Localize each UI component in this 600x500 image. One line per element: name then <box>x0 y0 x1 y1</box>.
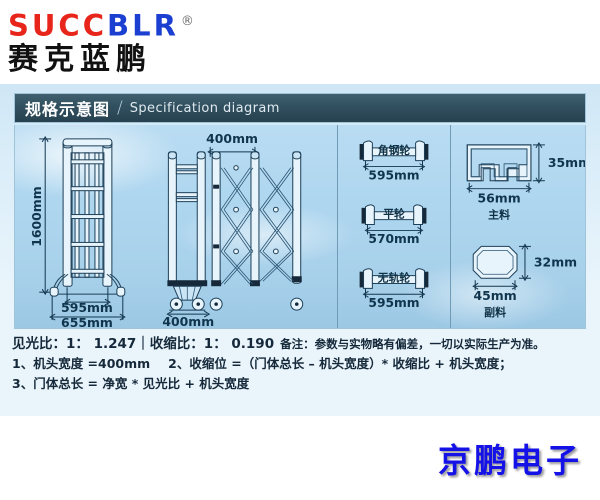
diagram-area: 1600mm <box>14 125 586 329</box>
title-separator: / <box>117 98 123 118</box>
panel-front-view: 1600mm <box>15 125 155 328</box>
panel-wheel-types: 角钢轮 595mm <box>337 125 451 328</box>
wheel-value-3: 595mm <box>368 296 419 310</box>
front-height-label: 1600mm <box>29 186 44 246</box>
company-logo: SUCCBLR® 赛克蓝鹏 <box>8 6 408 78</box>
profile-width-2: 45mm <box>474 288 517 303</box>
note-line-2: 1、机头宽度 =400mm2、收缩位 =（门体总长 – 机头宽度）* 收缩比 +… <box>12 354 592 374</box>
watermark-text: 京鹏电子 <box>438 434 582 482</box>
logo-latin-text: SUCCBLR® <box>8 6 408 42</box>
side-view-drawing: 400mm <box>155 125 337 328</box>
side-bottom-width-label: 400mm <box>162 314 214 328</box>
logo-chinese-text: 赛克蓝鹏 <box>8 43 408 77</box>
side-top-width-label: 400mm <box>206 131 258 146</box>
wheel-name-2: 平轮 <box>383 207 405 221</box>
section-title-chinese: 规格示意图 <box>25 96 110 120</box>
section-title-english: Specification diagram <box>130 101 280 116</box>
front-outer-width-label: 655mm <box>61 315 113 328</box>
profile-item-2: 32mm 45mm 副料 <box>473 244 577 319</box>
profile-height-1: 35mm <box>548 155 585 170</box>
note-2b: 2、收缩位 =（门体总长 – 机头宽度）* 收缩比 + 机头宽度； <box>168 356 512 371</box>
profiles-drawing: 35mm 56mm 主料 <box>451 125 585 328</box>
wheel-name-1: 角钢轮 <box>378 143 411 157</box>
wheel-item-3: 无轨轮 595mm <box>360 269 429 310</box>
wheel-types-drawing: 角钢轮 595mm <box>338 125 450 328</box>
registered-trademark-icon: ® <box>181 14 194 29</box>
wheel-item-1: 角钢轮 595mm <box>360 141 429 182</box>
profile-item-1: 35mm 56mm 主料 <box>467 143 585 222</box>
logo-latin-part2: BLR <box>107 9 179 43</box>
panel-side-view: 400mm <box>155 125 337 328</box>
note-2a: 1、机头宽度 =400mm <box>12 356 150 371</box>
note-line-3: 3、门体总长 = 净宽 * 见光比 + 机头宽度 <box>12 374 592 394</box>
note-line-1: 见光比：1： 1.247｜收缩比：1： 0.190备注：参数与实物略有偏差，一切… <box>12 334 592 354</box>
profile-height-2: 32mm <box>534 254 577 269</box>
specification-notes: 见光比：1： 1.247｜收缩比：1： 0.190备注：参数与实物略有偏差，一切… <box>12 334 592 394</box>
profile-name-2: 副料 <box>484 305 506 319</box>
wheel-name-3: 无轨轮 <box>377 271 411 285</box>
wheel-value-1: 595mm <box>368 168 419 182</box>
wheel-value-2: 570mm <box>368 232 419 246</box>
panel-profiles: 35mm 56mm 主料 <box>451 125 585 328</box>
profile-name-1: 主料 <box>488 208 510 222</box>
specification-card: 规格示意图 / Specification diagram 1600mm <box>0 84 600 416</box>
front-view-drawing: 1600mm <box>15 125 155 328</box>
profile-width-1: 56mm <box>477 191 520 206</box>
page-root: SUCCBLR® 赛克蓝鹏 规格示意图 / Specification diag… <box>0 0 600 500</box>
logo-latin-part1: SUCC <box>8 9 107 43</box>
ratio-text: 见光比：1： 1.247｜收缩比：1： 0.190 <box>12 336 274 352</box>
wheel-item-2: 平轮 570mm <box>362 205 427 246</box>
front-inner-width-label: 595mm <box>61 300 113 315</box>
remark-text: 备注：参数与实物略有偏差，一切以实际生产为准。 <box>280 337 545 351</box>
section-title-bar: 规格示意图 / Specification diagram <box>14 93 586 123</box>
